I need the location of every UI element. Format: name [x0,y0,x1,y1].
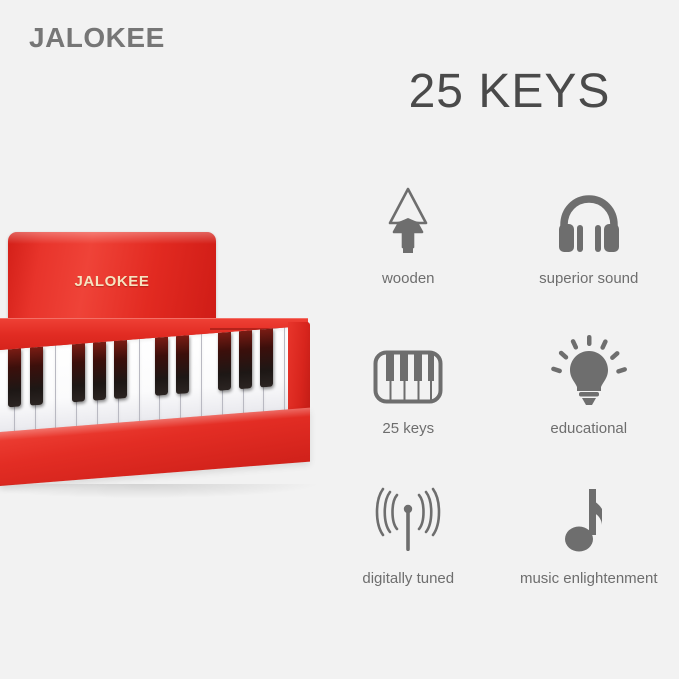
pine-tree-icon [376,183,440,257]
piano-black-key [72,343,85,402]
piano-black-key [155,337,168,396]
feature-item-superior-sound: superior sound [499,160,679,310]
piano-black-key [93,342,106,401]
signal-tuning-icon [370,483,446,557]
piano-stand-brand-text: JALOKEE [8,273,216,290]
feature-item-25-keys: 25 keys [318,310,499,460]
product-photo: JALOKEE [0,200,330,520]
feature-grid: wooden superior sound [318,160,679,610]
piano-black-key [239,330,252,389]
feature-label: 25 keys [382,420,434,437]
feature-item-music-enlightenment: music enlightenment [499,460,679,610]
feature-item-digitally-tuned: digitally tuned [318,460,499,610]
feature-label: music enlightenment [520,570,658,587]
product-drop-shadow [0,484,316,498]
piano-black-key [218,332,231,391]
feature-item-wooden: wooden [318,160,499,310]
brand-logo: JALOKEE [29,24,165,52]
light-bulb-icon [551,333,627,407]
feature-label: digitally tuned [362,570,454,587]
headphones-icon [553,183,625,257]
page-title: 25 KEYS [340,66,679,119]
piano-black-key [176,335,189,394]
feature-label: educational [550,420,627,437]
piano-keys-icon [372,333,444,407]
feature-label: wooden [382,270,435,287]
piano-black-key [114,340,127,399]
piano-black-key [8,348,21,407]
feature-label: superior sound [539,270,638,287]
feature-item-educational: educational [499,310,679,460]
piano-black-key [30,347,43,406]
piano-music-stand: JALOKEE [8,232,216,328]
piano-black-key [260,329,273,388]
music-note-icon [558,483,620,557]
